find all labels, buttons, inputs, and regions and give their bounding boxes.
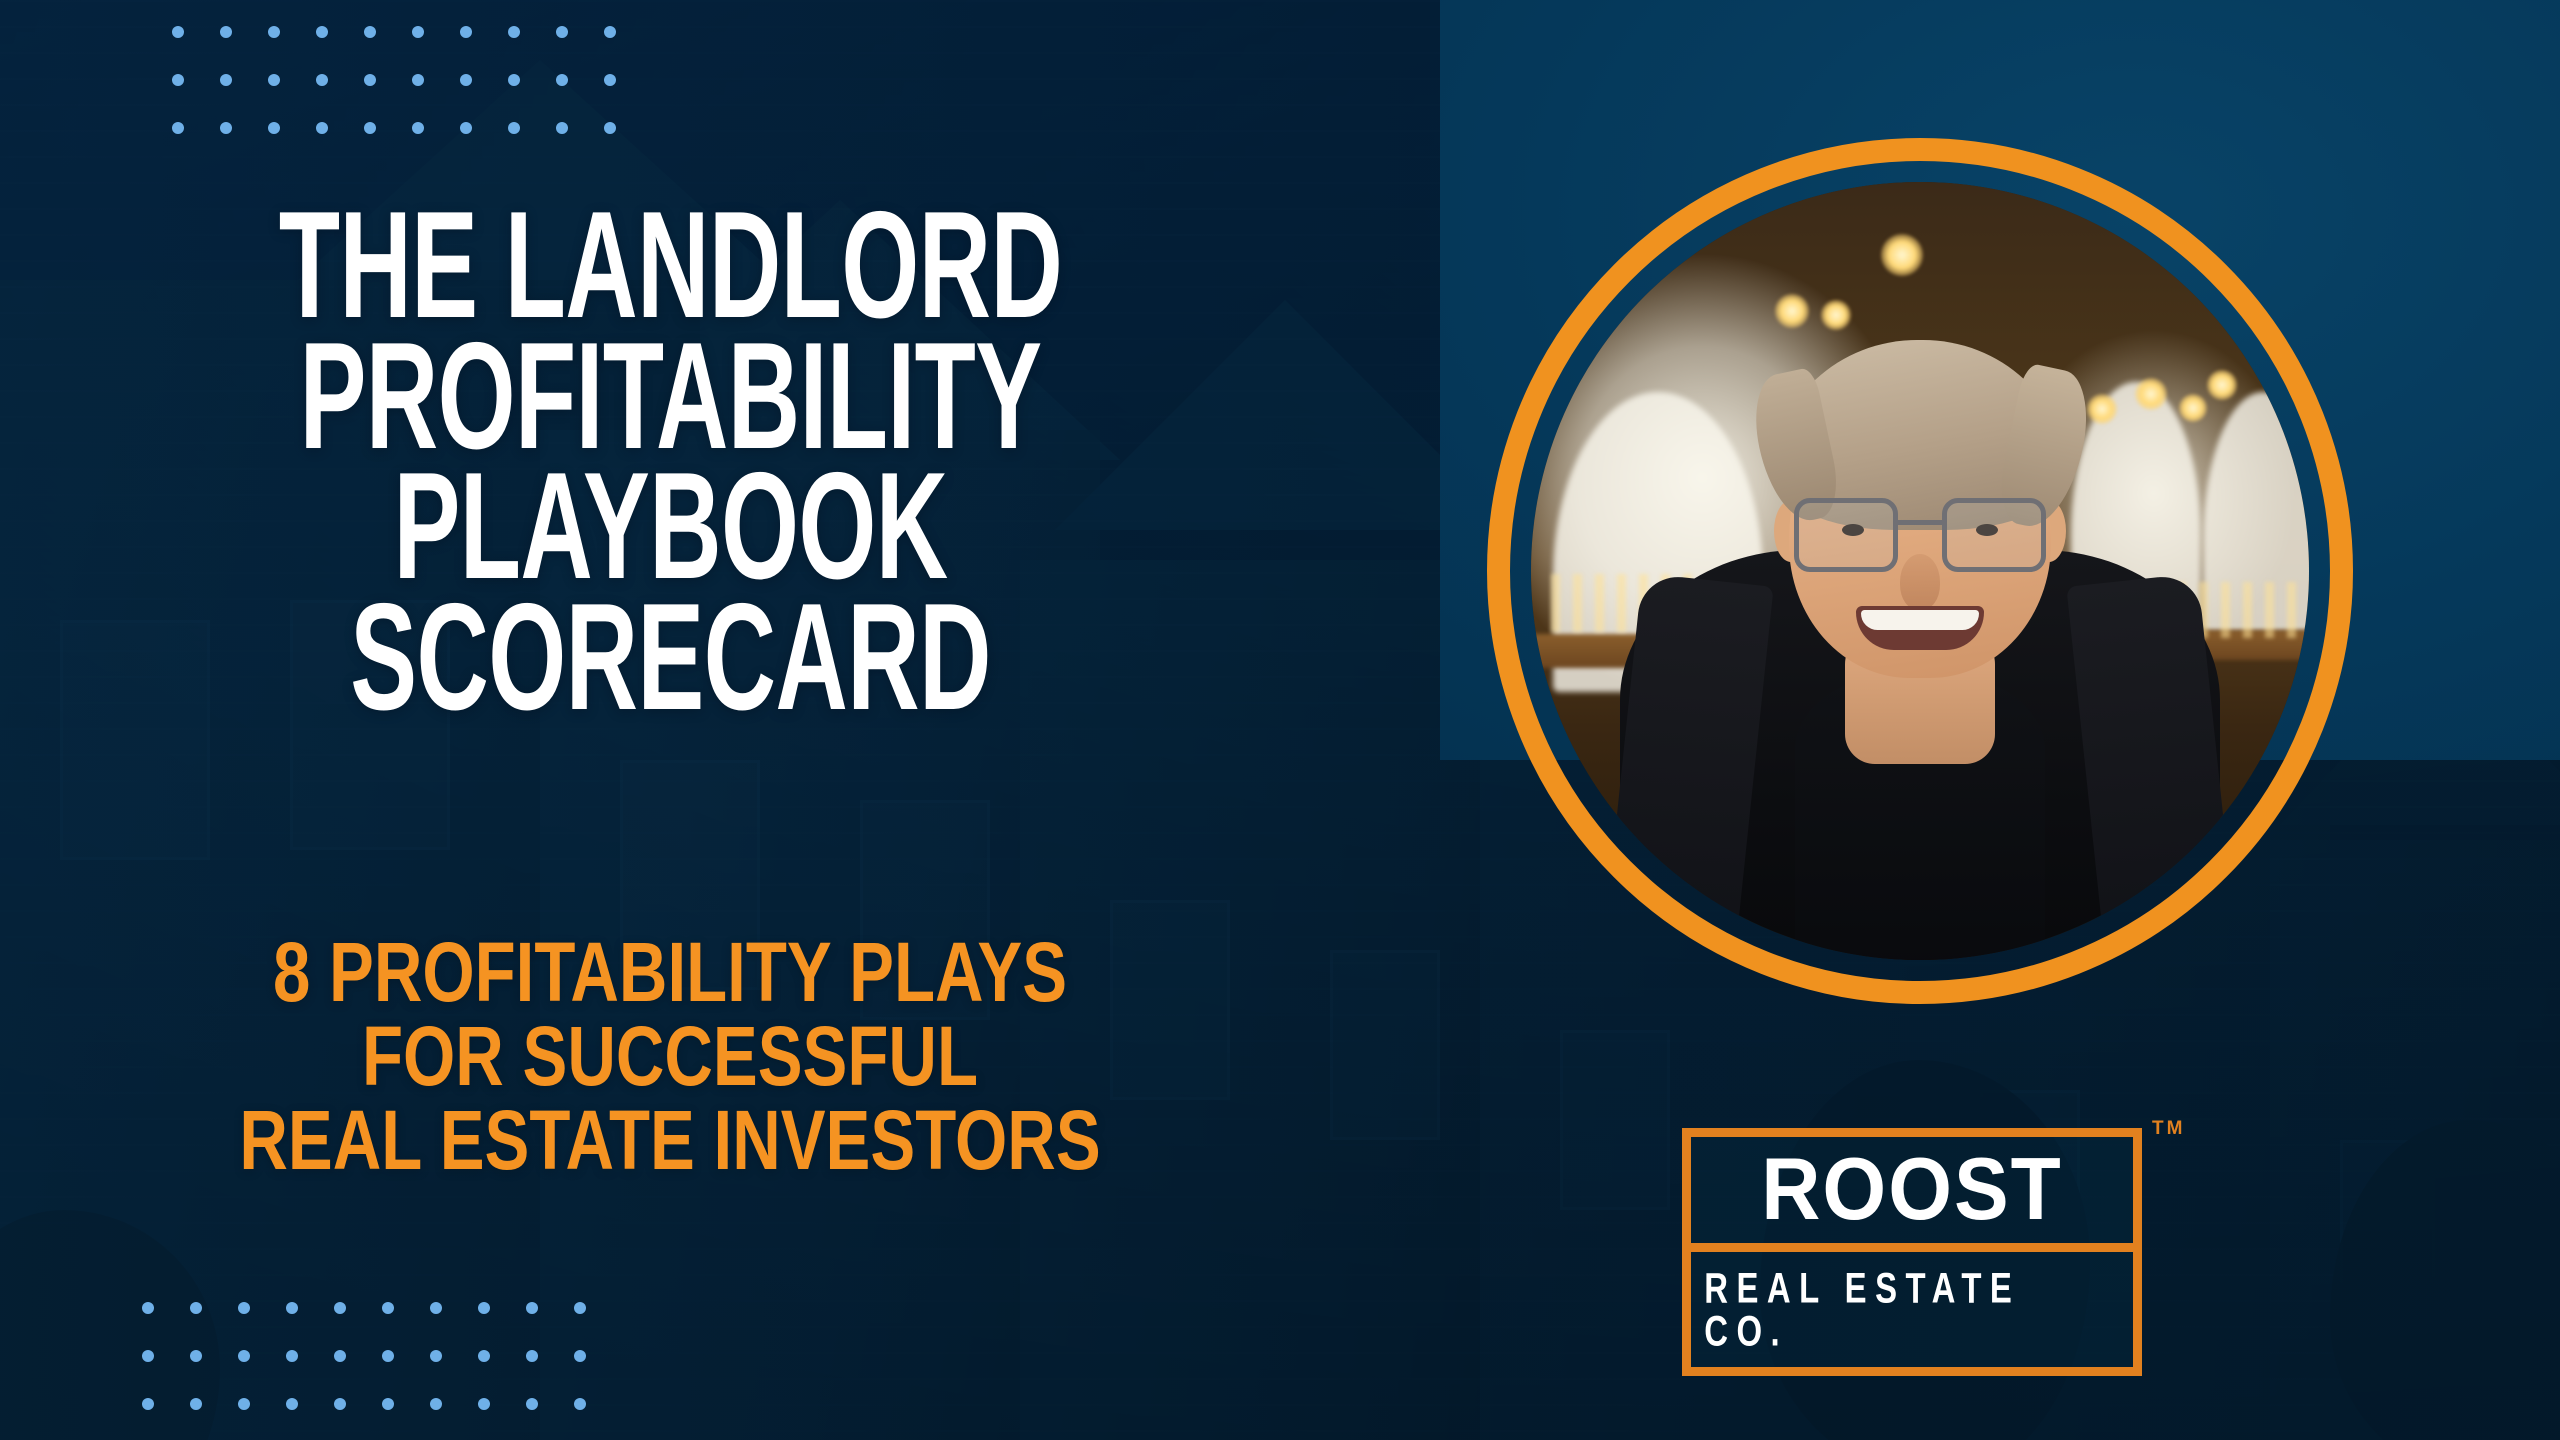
decorative-dot xyxy=(412,122,424,134)
promo-graphic-canvas: THE LANDLORD PROFITABILITY PLAYBOOK SCOR… xyxy=(0,0,2560,1440)
decorative-dot xyxy=(556,74,568,86)
decorative-dot xyxy=(142,1350,154,1362)
decorative-dot xyxy=(238,1398,250,1410)
decorative-dot xyxy=(220,74,232,86)
decorative-dot xyxy=(526,1302,538,1314)
decorative-dot xyxy=(334,1350,346,1362)
decorative-dot xyxy=(430,1302,442,1314)
decorative-dot xyxy=(286,1398,298,1410)
decorative-dot xyxy=(508,74,520,86)
decorative-dot xyxy=(220,122,232,134)
decorative-dot xyxy=(574,1302,586,1314)
decorative-dot xyxy=(412,74,424,86)
portrait-orange-ring xyxy=(1487,138,2353,1004)
decorative-dot xyxy=(286,1302,298,1314)
decorative-dot xyxy=(508,122,520,134)
roost-logo[interactable]: ROOST REAL ESTATE CO. xyxy=(1682,1128,2142,1376)
subtitle-line-3: REAL ESTATE INVESTORS xyxy=(170,1098,1170,1182)
decorative-dot xyxy=(460,26,472,38)
decorative-dot xyxy=(364,122,376,134)
decorative-dot xyxy=(382,1350,394,1362)
page-title: THE LANDLORD PROFITABILITY PLAYBOOK SCOR… xyxy=(171,200,1171,723)
decorative-dot xyxy=(526,1350,538,1362)
decorative-dot xyxy=(526,1398,538,1410)
decorative-dot xyxy=(508,26,520,38)
decorative-dot xyxy=(190,1398,202,1410)
decorative-dot xyxy=(316,26,328,38)
decorative-dot xyxy=(574,1398,586,1410)
decorative-dot xyxy=(460,122,472,134)
decorative-dot xyxy=(478,1350,490,1362)
logo-tagline-text: REAL ESTATE CO. xyxy=(1704,1267,2119,1352)
decorative-dot xyxy=(382,1398,394,1410)
decorative-dot xyxy=(334,1398,346,1410)
decorative-dot xyxy=(142,1398,154,1410)
decorative-dot xyxy=(268,122,280,134)
subtitle-line-1: 8 PROFITABILITY PLAYS xyxy=(170,930,1170,1014)
decorative-dot xyxy=(430,1350,442,1362)
decorative-dot xyxy=(556,122,568,134)
decorative-dot xyxy=(172,74,184,86)
subtitle-line-2: FOR SUCCESSFUL xyxy=(170,1014,1170,1098)
decorative-dot xyxy=(190,1302,202,1314)
decorative-dot xyxy=(190,1350,202,1362)
decorative-dot xyxy=(604,26,616,38)
decorative-dot xyxy=(334,1302,346,1314)
decorative-dot xyxy=(604,122,616,134)
decorative-dot xyxy=(478,1398,490,1410)
decorative-dot xyxy=(142,1302,154,1314)
decorative-dot xyxy=(172,26,184,38)
subtitle: 8 PROFITABILITY PLAYS FOR SUCCESSFUL REA… xyxy=(170,930,1170,1182)
decorative-dot xyxy=(574,1350,586,1362)
decorative-dot xyxy=(364,26,376,38)
decorative-dot xyxy=(460,74,472,86)
decorative-dot xyxy=(220,26,232,38)
logo-tagline-row: REAL ESTATE CO. xyxy=(1691,1252,2133,1367)
decorative-dot xyxy=(286,1350,298,1362)
decorative-dot xyxy=(238,1302,250,1314)
headline-line-4: SCORECARD xyxy=(171,592,1171,723)
decorative-dot xyxy=(316,74,328,86)
decorative-dot xyxy=(364,74,376,86)
decorative-dot xyxy=(556,26,568,38)
decorative-dot xyxy=(238,1350,250,1362)
avatar xyxy=(1487,138,2353,1004)
decorative-dot xyxy=(316,122,328,134)
decorative-dot xyxy=(172,122,184,134)
decorative-dot xyxy=(382,1302,394,1314)
trademark-symbol: TM xyxy=(2152,1118,2185,1140)
logo-brand-row: ROOST xyxy=(1691,1137,2133,1252)
decorative-dot xyxy=(430,1398,442,1410)
headline-block: THE LANDLORD PROFITABILITY PLAYBOOK SCOR… xyxy=(170,200,1170,723)
decorative-dot xyxy=(268,74,280,86)
logo-brand-text: ROOST xyxy=(1761,1146,2063,1235)
decorative-dot xyxy=(478,1302,490,1314)
decorative-dot xyxy=(604,74,616,86)
decorative-dot xyxy=(268,26,280,38)
decorative-dot xyxy=(412,26,424,38)
